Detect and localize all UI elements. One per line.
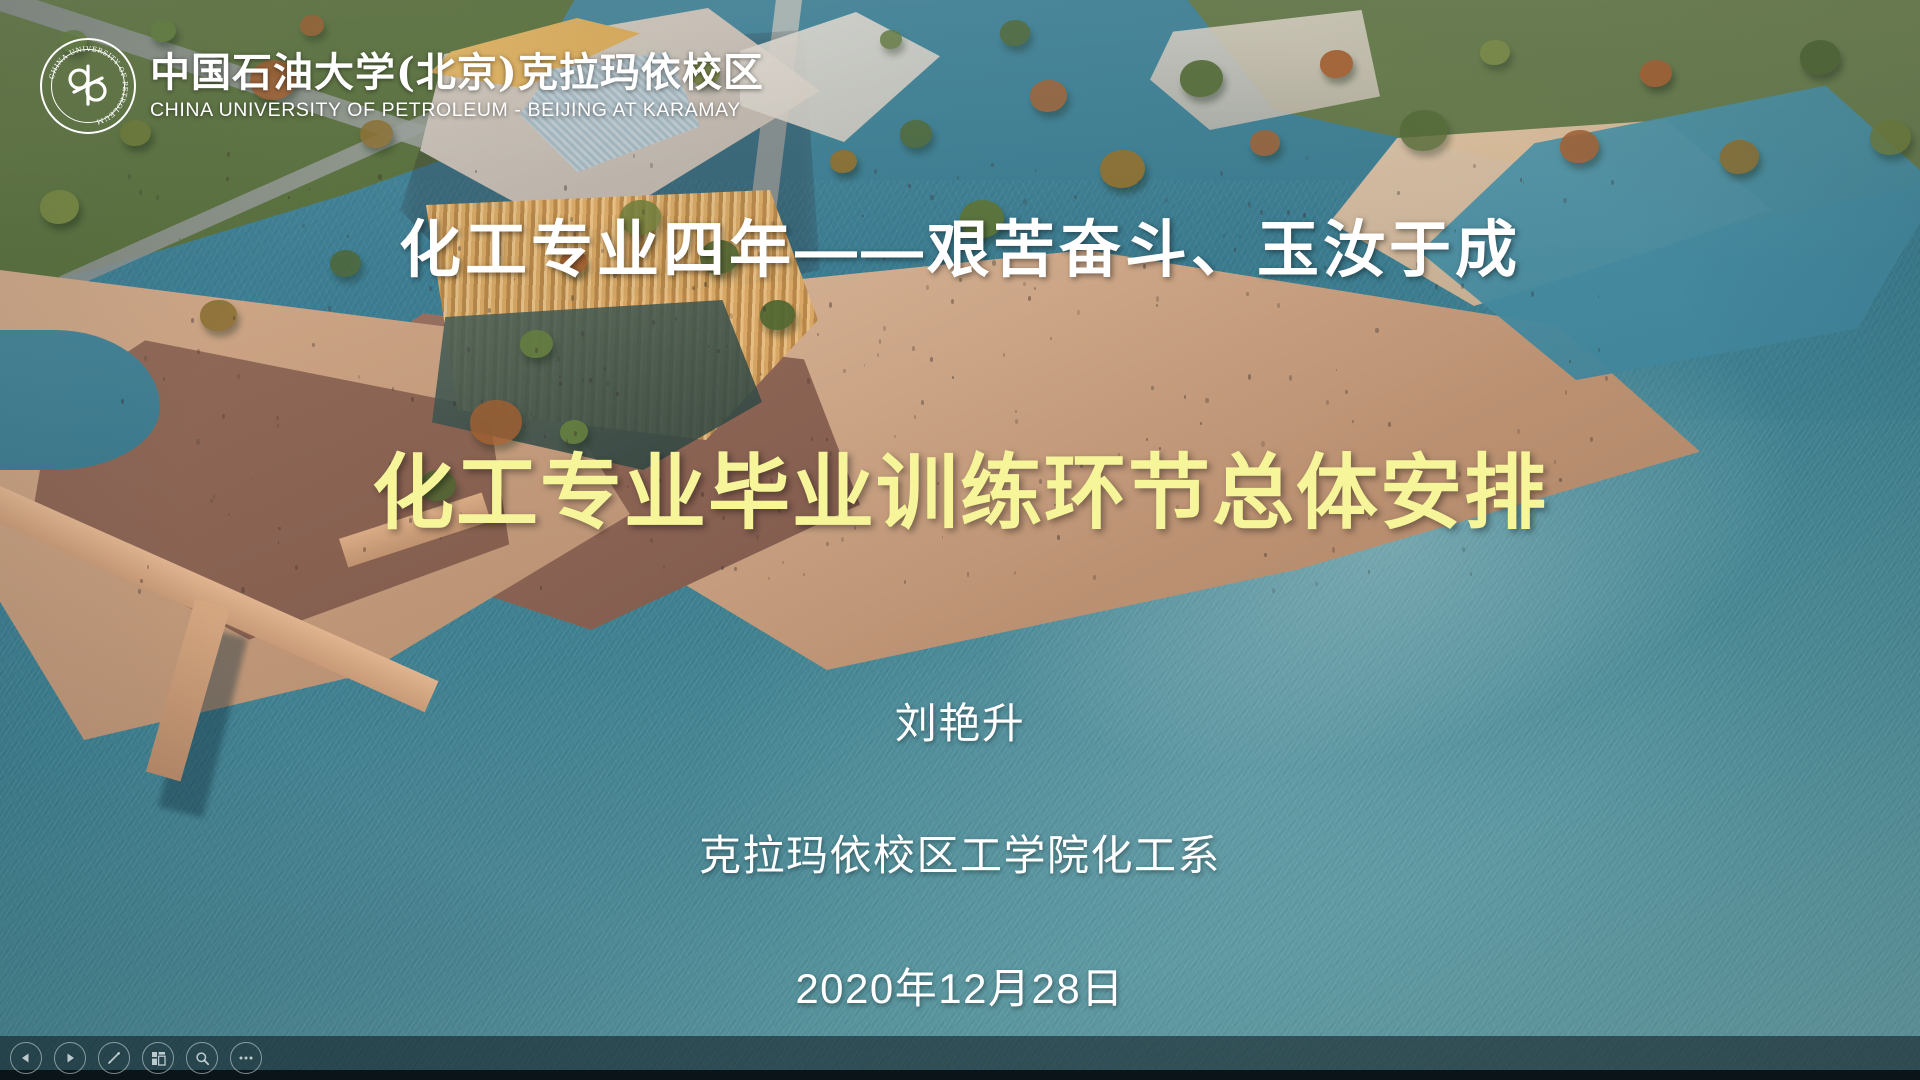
- pedestrian-dot: [1138, 180, 1140, 183]
- pedestrian-dot: [1531, 291, 1534, 296]
- pedestrian-dot: [1014, 571, 1016, 575]
- pedestrian-dot: [768, 577, 770, 581]
- seal-monogram-icon: [66, 62, 110, 108]
- pedestrian-dot: [1563, 198, 1566, 204]
- triangle-left-icon: [20, 1052, 32, 1064]
- pedestrian-dot: [1517, 429, 1520, 434]
- pedestrian-dot: [663, 565, 665, 568]
- pedestrian-dot: [288, 196, 290, 200]
- presenter-department: 克拉玛依校区工学院化工系: [0, 822, 1920, 883]
- pedestrian-dot: [633, 154, 635, 157]
- pedestrian-dot: [1388, 422, 1391, 426]
- pedestrian-dot: [1151, 386, 1153, 390]
- pedestrian-dot: [1003, 353, 1005, 356]
- pedestrian-dot: [1598, 348, 1600, 351]
- pedestrian-dot: [226, 177, 229, 181]
- pedestrian-dot: [817, 333, 819, 336]
- pedestrian-dot: [1332, 547, 1335, 552]
- pedestrian-dot: [121, 399, 124, 404]
- pedestrian-dot: [914, 415, 916, 419]
- pedestrian-dot: [163, 377, 165, 381]
- logo-text-block: 中国石油大学(北京)克拉玛依校区 CHINA UNIVERSITY OF PET…: [150, 51, 764, 122]
- tree: [1800, 40, 1840, 75]
- pedestrian-dot: [826, 438, 828, 441]
- pedestrian-dot: [717, 349, 719, 353]
- pedestrian-dot: [1611, 180, 1614, 185]
- pedestrian-dot: [616, 392, 619, 396]
- pedestrian-dot: [692, 286, 695, 290]
- tree: [1030, 80, 1067, 112]
- tree: [300, 15, 324, 36]
- pedestrian-dot: [571, 295, 574, 300]
- logo-name-en: CHINA UNIVERSITY OF PETROLEUM - BEIJING …: [150, 100, 764, 121]
- pen-icon: [106, 1050, 122, 1066]
- pedestrian-dot: [1156, 304, 1158, 307]
- pedestrian-dot: [544, 435, 546, 438]
- ellipsis-icon: [238, 1055, 254, 1061]
- tree: [880, 30, 902, 49]
- pedestrian-dot: [826, 542, 828, 546]
- grid-slides-icon: [151, 1051, 166, 1066]
- pedestrian-dot: [957, 176, 959, 180]
- pedestrian-dot: [535, 348, 538, 353]
- pedestrian-dot: [363, 547, 366, 552]
- pedestrian-dot: [894, 435, 896, 438]
- magnifier-icon: [195, 1051, 210, 1066]
- seal-ring-text: CHINA UNIVERSITY OF PETROLEUM: [42, 40, 134, 132]
- tree: [1000, 20, 1030, 46]
- slide-title: 化工专业毕业训练环节总体安排: [0, 448, 1920, 540]
- pedestrian-dot: [652, 320, 655, 325]
- presenter-toolbar: [0, 1036, 1920, 1080]
- university-seal-icon: CHINA UNIVERSITY OF PETROLEUM: [40, 38, 136, 134]
- presentation-slide: CHINA UNIVERSITY OF PETROLEUM 中国石油大学(北京)…: [0, 0, 1920, 1080]
- pedestrian-dot: [1289, 375, 1292, 381]
- more-options-button[interactable]: [230, 1042, 262, 1074]
- pedestrian-dot: [1165, 198, 1168, 203]
- pedestrian-dot: [559, 382, 562, 387]
- pedestrian-dot: [1345, 390, 1348, 394]
- all-slides-button[interactable]: [142, 1042, 174, 1074]
- pedestrian-dot: [930, 195, 933, 201]
- pedestrian-dot: [734, 567, 737, 572]
- pedestrian-dot: [843, 369, 845, 373]
- pedestrian-dot: [1077, 310, 1080, 315]
- pedestrian-dot: [196, 439, 199, 445]
- pedestrian-dot: [475, 170, 477, 174]
- previous-slide-button[interactable]: [10, 1042, 42, 1074]
- pedestrian-dot: [581, 331, 584, 337]
- pedestrian-dot: [721, 566, 724, 571]
- next-slide-button[interactable]: [54, 1042, 86, 1074]
- pedestrian-dot: [912, 346, 915, 351]
- pedestrian-dot: [582, 379, 584, 382]
- pedestrian-dot: [1598, 295, 1600, 298]
- tree: [1250, 130, 1280, 156]
- logo-name-cn: 中国石油大学(北京)克拉玛依校区: [150, 51, 764, 94]
- pedestrian-dot: [606, 381, 609, 387]
- pedestrian-dot: [829, 302, 832, 307]
- svg-text:CHINA UNIVERSITY OF PETROLEUM: CHINA UNIVERSITY OF PETROLEUM: [48, 45, 129, 126]
- pedestrian-dot: [233, 316, 236, 320]
- pedestrian-dot: [1315, 582, 1317, 586]
- pedestrian-dot: [147, 565, 149, 569]
- pedestrian-dot: [276, 416, 278, 420]
- pedestrian-dot: [227, 152, 230, 157]
- pedestrian-dot: [540, 586, 542, 590]
- pedestrian-dot: [378, 174, 381, 180]
- pedestrian-dot: [312, 343, 314, 347]
- pedestrian-dot: [1272, 588, 1275, 593]
- pedestrian-dot: [642, 209, 645, 215]
- pedestrian-dot: [564, 185, 567, 191]
- pedestrian-dot: [1200, 422, 1202, 425]
- pedestrian-dot: [650, 163, 653, 167]
- pen-tool-button[interactable]: [98, 1042, 130, 1074]
- pedestrian-dot: [1261, 441, 1264, 447]
- pedestrian-dot: [951, 299, 954, 305]
- tree: [1400, 110, 1448, 151]
- triangle-right-icon: [64, 1052, 76, 1064]
- pedestrian-dot: [1023, 199, 1026, 205]
- presentation-date: 2020年12月28日: [0, 955, 1920, 1016]
- pedestrian-dot: [1246, 292, 1249, 297]
- pedestrian-dot: [1248, 202, 1251, 208]
- tree: [470, 400, 522, 445]
- slide-subtitle: 化工专业四年——艰苦奋斗、玉汝于成: [0, 215, 1920, 286]
- pedestrian-dot: [139, 190, 142, 195]
- tree: [1640, 60, 1672, 87]
- pedestrian-dot: [811, 437, 813, 440]
- pedestrian-dot: [930, 357, 933, 362]
- pedestrian-dot: [1375, 328, 1378, 333]
- pedestrian-dot: [140, 579, 142, 583]
- pedestrian-dot: [763, 306, 766, 311]
- pedestrian-dot: [729, 313, 732, 319]
- pedestrian-dot: [1050, 337, 1052, 340]
- pedestrian-dot: [241, 587, 244, 593]
- pedestrian-dot: [1184, 395, 1186, 399]
- pedestrian-dot: [1277, 303, 1280, 308]
- pedestrian-dot: [1590, 437, 1593, 442]
- pedestrian-dot: [921, 400, 924, 405]
- pedestrian-dot: [908, 184, 910, 188]
- pedestrian-dot: [1473, 164, 1476, 169]
- pedestrian-dot: [467, 347, 470, 352]
- pedestrian-dot: [877, 353, 879, 357]
- pedestrian-dot: [557, 356, 560, 361]
- pedestrian-dot: [128, 174, 131, 179]
- pedestrian-dot: [1220, 171, 1223, 176]
- university-logo: CHINA UNIVERSITY OF PETROLEUM 中国石油大学(北京)…: [40, 38, 764, 134]
- pedestrian-dot: [1264, 553, 1266, 557]
- pedestrian-dot: [358, 375, 360, 379]
- pedestrian-dot: [874, 169, 877, 174]
- zoom-tool-button[interactable]: [186, 1042, 218, 1074]
- tree: [900, 120, 932, 148]
- presenter-name: 刘艳升: [0, 690, 1920, 751]
- pedestrian-dot: [1205, 398, 1208, 404]
